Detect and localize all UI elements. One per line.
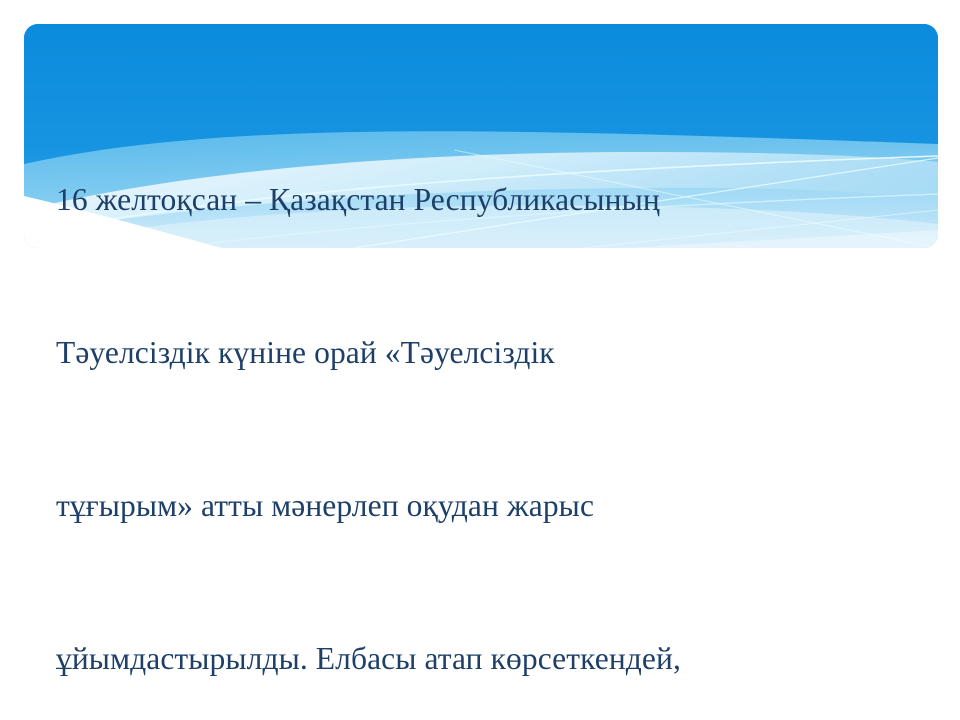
text-line: ұйымдастырылды. Елбасы атап көрсеткендей… — [56, 633, 926, 684]
text-line: тұғырым» атты мәнерлеп оқудан жарыс — [56, 480, 926, 531]
slide-canvas: 16 желтоқсан – Қазақстан Республикасының… — [0, 0, 960, 720]
text-line: 16 желтоқсан – Қазақстан Республикасының — [56, 174, 926, 225]
text-line: Тәуелсіздік күніне орай «Тәуелсіздік — [56, 327, 926, 378]
slide-body-text: 16 желтоқсан – Қазақстан Республикасының… — [56, 72, 926, 720]
